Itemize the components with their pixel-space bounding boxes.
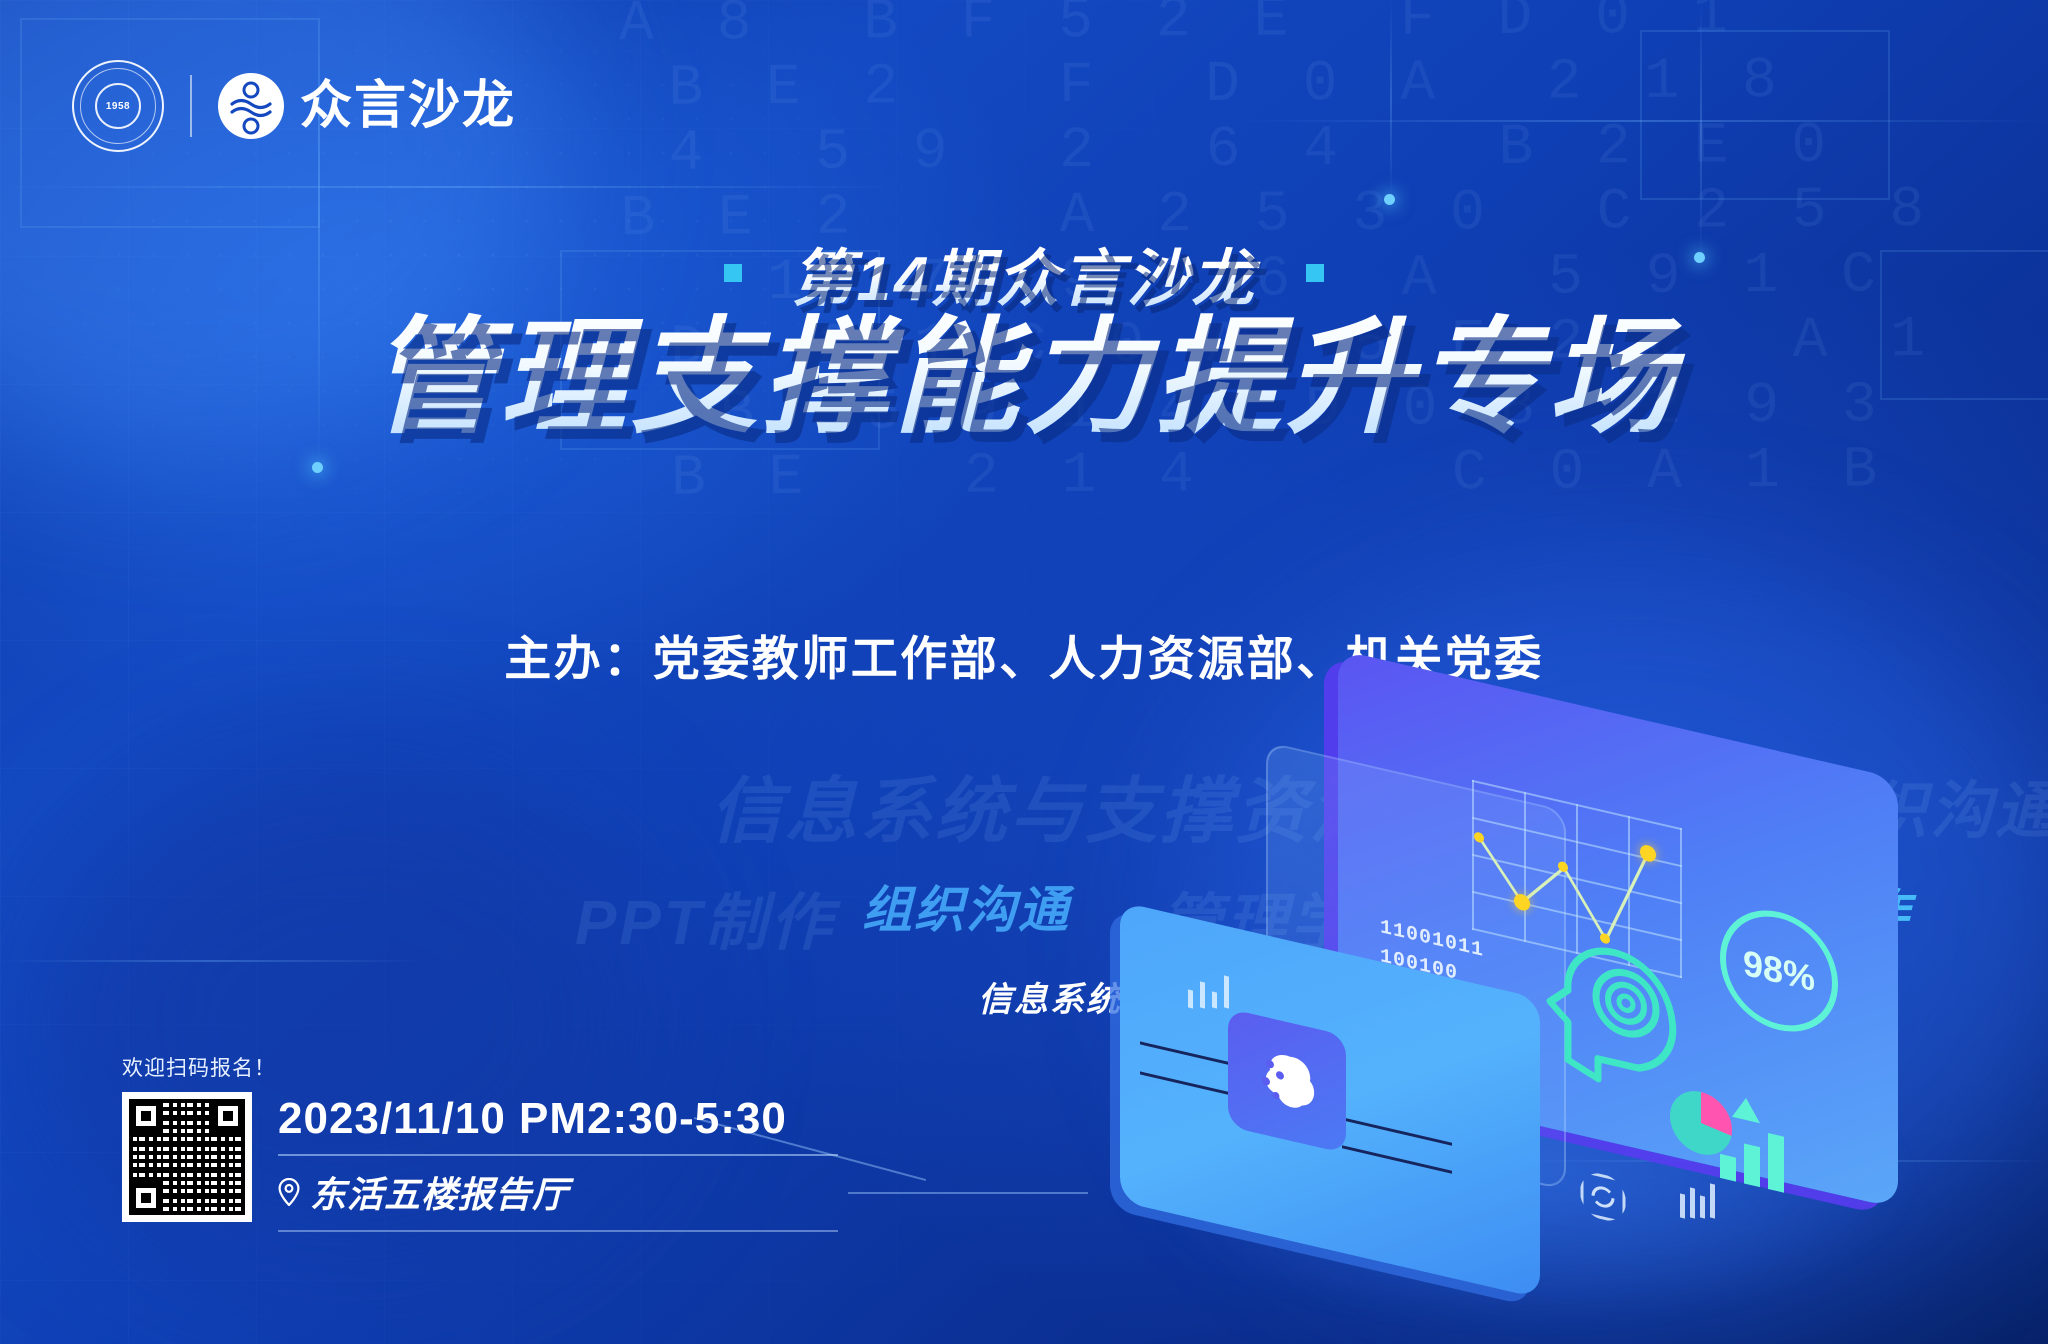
brand-name: 众言沙龙 [300,80,516,132]
ghost-keyword-2: PPT制作 [575,872,835,962]
footer-rule-top [278,1154,838,1156]
logo-divider [190,75,192,137]
mini-bar-6 [1690,1187,1695,1218]
emblem-year: 1958 [106,101,130,112]
decor-node-3 [1384,194,1395,205]
footer-connector-2 [848,1192,1088,1194]
mini-bar-8 [1710,1183,1715,1218]
scan-note: 欢迎扫码报名！ [122,1052,838,1082]
mini-bar-3 [1212,991,1217,1008]
footer-info: 2023/11/10 PM2:30-5:30 东活五楼报告厅 [278,1092,838,1232]
registration-qr-code[interactable] [122,1092,252,1222]
event-location: 东活五楼报告厅 [310,1166,569,1218]
page-title: 管理支撑能力提升专场 [0,300,2048,456]
accuracy-value: 98% [1743,942,1815,1001]
header-logos: 1958 众言沙龙 [72,60,516,152]
salon-circle-mark [218,73,284,139]
event-datetime: 2023/11/10 PM2:30-5:30 [278,1096,838,1142]
footer-row: 2023/11/10 PM2:30-5:30 东活五楼报告厅 [122,1092,838,1232]
mini-bar-4 [1224,975,1229,1008]
footer-rule-bottom [278,1230,838,1232]
emblem-inner-ring: 1958 [95,83,141,129]
university-emblem: 1958 [72,60,164,152]
brand-lockup: 众言沙龙 [218,73,516,139]
qr-pattern [129,1099,245,1215]
ai-head-icon [1542,906,1682,1108]
decor-vline-3 [1390,0,1392,200]
decor-vline-2 [1700,0,1702,260]
footer-block: 欢迎扫码报名！ 2023/11/10 PM2:30-5:30 东活五楼报告厅 [122,1052,838,1232]
mini-bar-7 [1700,1195,1705,1218]
decor-hline-4 [0,960,420,962]
poster-canvas: A 8 B F 5 2 E F D 0 1 B E 2 F D 0 A 2 1 … [0,0,2048,1344]
event-location-row: 东活五楼报告厅 [278,1166,838,1218]
tech-illustration: 11001011 100100 1000101110 1000010 98% [1080,700,1960,1320]
mini-bar-5 [1680,1193,1685,1218]
mini-bar-2 [1200,981,1205,1008]
decor-node-2 [312,462,323,473]
mini-bar-1 [1188,989,1193,1008]
decor-frame-3 [1640,30,1890,200]
kicker-square-left-icon [724,264,742,282]
location-pin-icon [278,1178,300,1206]
organizer-line: 主办：党委教师工作部、人力资源部、机关党委 [0,620,2048,689]
decor-hline-1 [0,186,900,188]
keyword-zuzhi: 组织沟通 [862,870,1070,942]
kicker-square-right-icon [1306,264,1324,282]
decor-hline-2 [1240,120,2048,122]
